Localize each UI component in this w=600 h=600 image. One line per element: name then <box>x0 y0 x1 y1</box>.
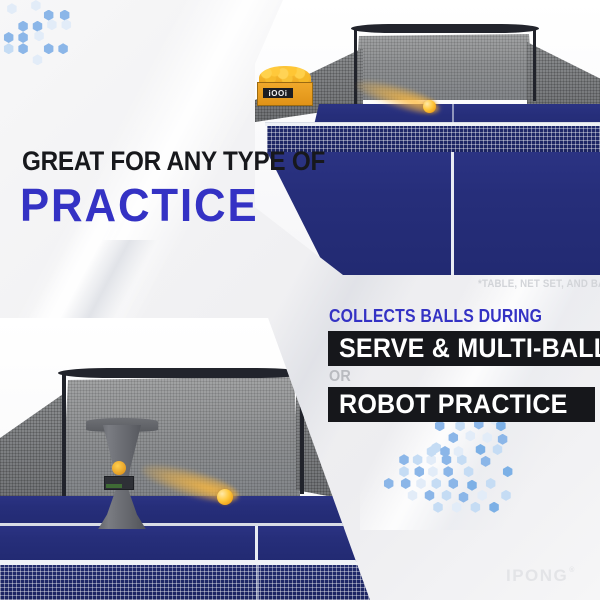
photo-top-right-scene: iOOi <box>255 0 600 275</box>
ball-basket: iOOi <box>257 66 313 108</box>
promo-graphic: iOOi <box>0 0 600 600</box>
hex-dot <box>453 446 464 457</box>
basket-brand-label: iOOi <box>263 88 293 98</box>
hex-dot <box>433 502 444 513</box>
hex-dot <box>458 492 469 503</box>
hex-dot <box>451 502 462 513</box>
collector-indicator-strip <box>106 484 122 488</box>
enclosure-top-bar-2 <box>58 368 306 378</box>
hex-dot <box>485 478 496 489</box>
hex-dot <box>465 430 476 441</box>
table-surface-2 <box>0 526 370 562</box>
hex-dot <box>431 478 442 489</box>
hex-dot <box>448 478 459 489</box>
hex-pattern-mid <box>426 446 486 476</box>
callout-secondary-box: ROBOT PRACTICE <box>328 387 595 422</box>
brand-logo: IPONG ® <box>506 566 576 586</box>
hex-dot <box>32 21 43 32</box>
brand-name: IPONG <box>506 566 568 586</box>
hex-dot <box>399 454 410 465</box>
hex-dot <box>59 10 70 21</box>
enclosure-top-bar <box>351 24 539 33</box>
hex-dot <box>482 432 493 443</box>
hex-dot <box>58 43 69 54</box>
table-center-line <box>451 152 454 275</box>
hex-dot <box>399 466 410 477</box>
hex-dot <box>477 490 488 501</box>
callout-secondary-label: ROBOT PRACTICE <box>339 389 568 420</box>
collector-logo-icon <box>112 461 126 475</box>
hex-dot <box>497 434 508 445</box>
hex-dot <box>30 0 41 11</box>
ping-pong-ball-2 <box>217 489 233 505</box>
hex-dot <box>18 43 29 54</box>
hex-dot <box>18 32 29 43</box>
enclosure-post-left-2 <box>62 374 66 498</box>
callout-primary-box: SERVE & MULTI-BALL <box>328 331 600 366</box>
headline-line-1: GREAT FOR ANY TYPE OF <box>22 146 325 177</box>
table-center-line-far <box>452 104 454 123</box>
hex-dot <box>467 480 478 491</box>
hex-dot <box>416 478 427 489</box>
hex-dot <box>414 466 425 477</box>
hex-dot <box>492 444 503 455</box>
hex-dot <box>61 19 72 30</box>
hex-dot <box>6 3 17 14</box>
hex-dot <box>470 502 481 513</box>
hex-pattern-top-left <box>0 0 120 90</box>
enclosure-post-right <box>533 27 536 101</box>
hex-dot <box>43 43 54 54</box>
net-tape <box>265 123 600 126</box>
disclaimer-footnote: *TABLE, NET SET, AND BAL <box>478 278 600 290</box>
hex-dot <box>424 490 435 501</box>
enclosure-post-left <box>354 28 357 106</box>
hex-dot <box>18 21 29 32</box>
callout-primary-label: SERVE & MULTI-BALL <box>339 333 600 364</box>
hex-dot <box>43 10 54 21</box>
hex-dot <box>489 502 500 513</box>
hex-dot <box>400 478 411 489</box>
table-center-line-2 <box>255 526 258 560</box>
hex-dot <box>448 432 459 443</box>
hex-dot <box>3 32 14 43</box>
headline-line-2: PRACTICE <box>20 178 259 232</box>
hex-dot <box>3 43 14 54</box>
callout-conjunction: OR <box>329 368 351 386</box>
hex-dot <box>426 446 437 457</box>
hex-dot <box>46 19 57 30</box>
hex-dot <box>34 30 45 41</box>
hex-dot <box>440 446 451 457</box>
hex-dot <box>32 54 43 65</box>
callout-kicker: COLLECTS BALLS DURING <box>329 306 542 327</box>
hex-dot <box>501 490 512 501</box>
photo-top-right: iOOi <box>255 0 600 275</box>
hex-dot <box>407 490 418 501</box>
table-net-2 <box>0 565 370 600</box>
table-center-line-net-2 <box>256 565 259 600</box>
trademark-icon: ® <box>569 567 576 574</box>
hex-dot <box>502 466 513 477</box>
hex-dot <box>412 454 423 465</box>
hex-dot <box>441 490 452 501</box>
ping-pong-ball <box>423 100 436 113</box>
